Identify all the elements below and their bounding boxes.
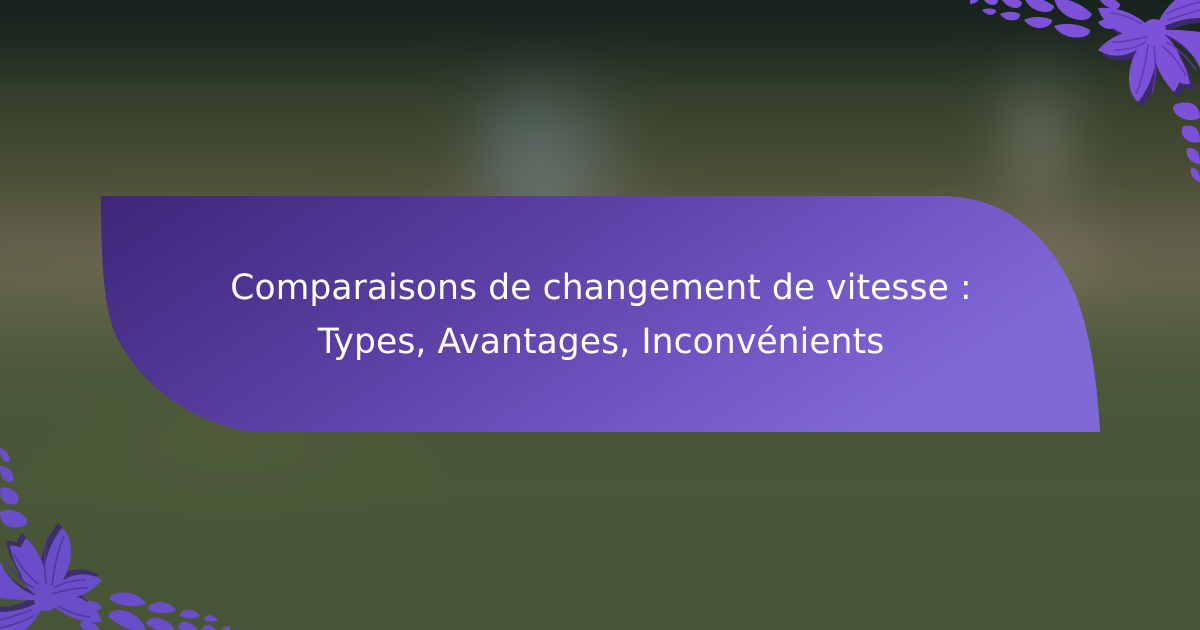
banner-text-block: Comparaisons de changement de vitesse : … (101, 196, 1101, 433)
social-card: Comparaisons de changement de vitesse : … (0, 0, 1200, 630)
title-line-2: Types, Avantages, Inconvénients (318, 315, 885, 369)
title-banner: Comparaisons de changement de vitesse : … (101, 196, 1101, 433)
title-line-1: Comparaisons de changement de vitesse : (230, 261, 971, 315)
